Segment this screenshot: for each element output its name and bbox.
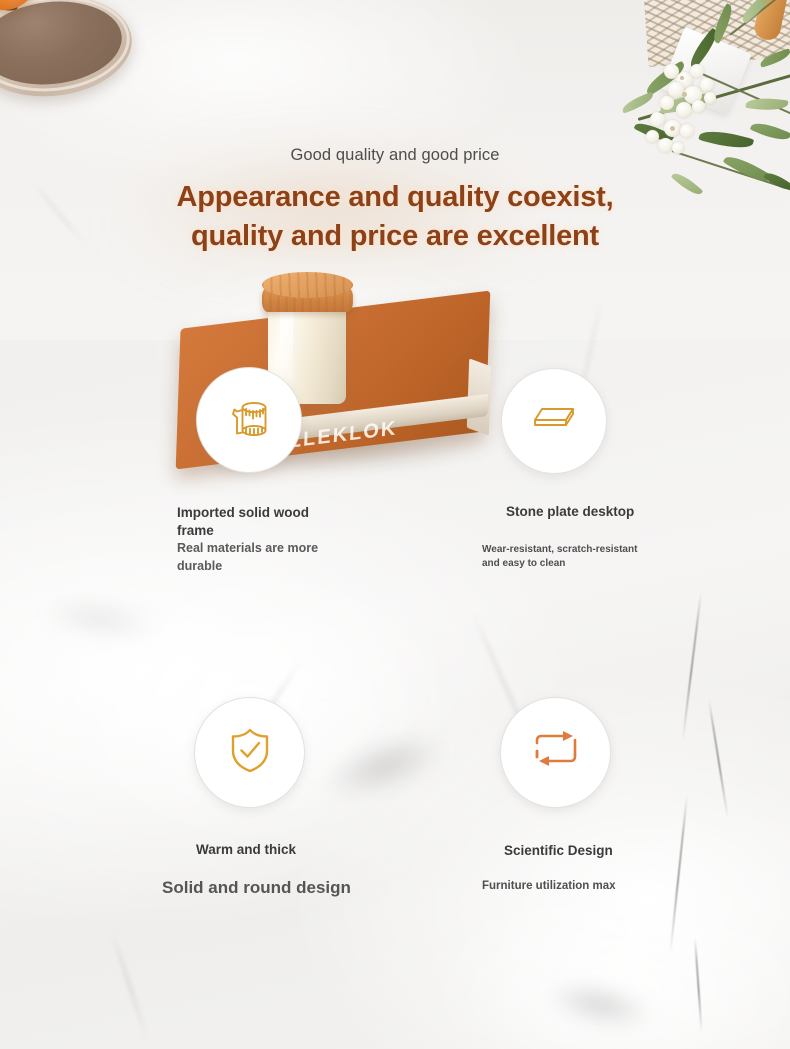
feature-title-warm-and-thick: Warm and thick: [196, 841, 396, 859]
cycle-arrows-icon: [529, 730, 583, 775]
feature-title-imported-solid-wood-frame: Imported solid wood frame: [177, 504, 337, 540]
feature-title-stone-plate-desktop: Stone plate desktop: [506, 503, 656, 521]
blossom-core: [680, 76, 684, 80]
blossom: [690, 64, 704, 78]
blossom: [704, 92, 716, 104]
blossom: [660, 96, 674, 110]
blossom: [700, 78, 714, 92]
bowl-rim: [0, 0, 134, 99]
wooden-lid-top: [262, 272, 353, 298]
feature-subtitle-imported-solid-wood-frame: Real materials are more durable: [177, 540, 342, 575]
feature-subtitle-warm-and-thick: Solid and round design: [162, 876, 422, 900]
feature-icon-circle-shield-check[interactable]: [194, 697, 305, 808]
page-title-line-1: Appearance and quality coexist,: [0, 178, 790, 217]
blossom-core: [682, 92, 687, 97]
feature-icon-circle-stone-slab[interactable]: [501, 368, 607, 474]
page-title: Appearance and quality coexist, quality …: [0, 178, 790, 255]
feature-icon-circle-cycle-arrows[interactable]: [500, 697, 611, 808]
blossom: [646, 130, 659, 143]
blossom: [680, 124, 694, 138]
blossom: [650, 112, 665, 127]
blossom-core: [670, 126, 675, 131]
orange-in-bowl-decoration: [0, 0, 147, 95]
stone-slab-icon: [528, 399, 580, 444]
feature-subtitle-stone-plate-desktop: Wear-resistant, scratch-resistant and ea…: [482, 543, 652, 571]
product-feature-page: Good quality and good price Appearance a…: [0, 0, 790, 1049]
blossom: [692, 100, 705, 113]
blossom: [676, 102, 692, 118]
wood-log-icon: [225, 394, 273, 447]
page-title-line-2: quality and price are excellent: [0, 217, 790, 256]
feature-subtitle-scientific-design: Furniture utilization max: [482, 878, 702, 894]
feature-title-scientific-design: Scientific Design: [504, 842, 704, 860]
shield-check-icon: [227, 726, 273, 779]
page-eyebrow: Good quality and good price: [0, 146, 790, 165]
feature-icon-circle-wood-log[interactable]: [196, 367, 302, 473]
